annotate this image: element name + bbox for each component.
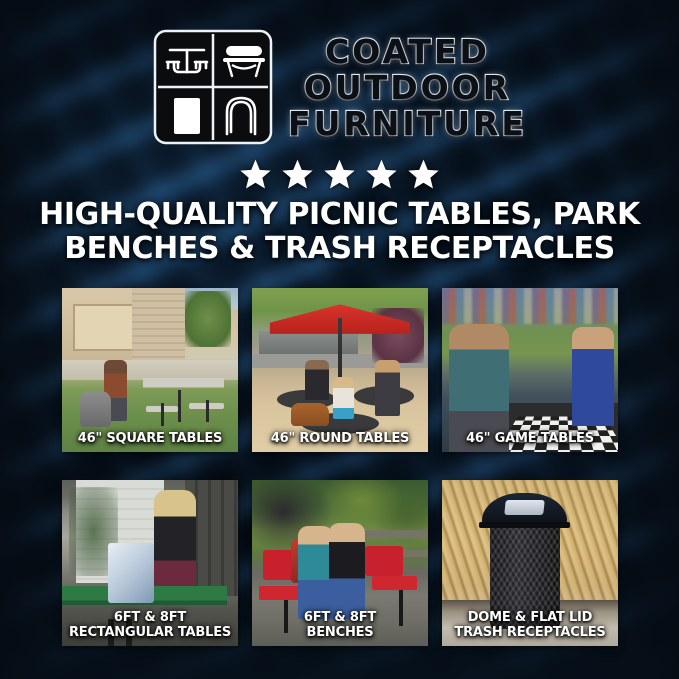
star-icon [365,158,398,191]
product-image-game-tables [442,288,618,452]
product-caption: 46" SQUARE TABLES [64,431,236,446]
caption-line-2: RECTANGULAR TABLES [64,625,236,640]
brand-wordmark: COATED OUTDOOR FURNITURE [288,34,527,142]
product-caption: 6FT & 8FT RECTANGULAR TABLES [64,610,236,640]
star-rating [0,156,679,192]
product-tile-game-tables[interactable]: 46" GAME TABLES [442,288,618,452]
caption-line-2: TRASH RECEPTACLES [444,625,616,640]
wordmark-line-coated: COATED [325,34,490,70]
caption-line-1: DOME & FLAT LID [444,610,616,625]
product-image-round-tables [252,288,428,452]
headline: HIGH-QUALITY PICNIC TABLES, PARK BENCHES… [30,198,649,266]
product-tile-benches[interactable]: 6FT & 8FT BENCHES [252,480,428,646]
caption-line-2: BENCHES [254,625,426,640]
caption-line-1: 46" GAME TABLES [444,431,616,446]
poster: COATED OUTDOOR FURNITURE HIGH-QUALITY PI… [0,0,679,679]
product-caption: 6FT & 8FT BENCHES [254,610,426,640]
star-icon [239,158,272,191]
star-icon [281,158,314,191]
caption-line-1: 6FT & 8FT [254,610,426,625]
product-image-square-tables [62,288,238,452]
wordmark-line-furniture: FURNITURE [288,106,527,142]
star-icon [323,158,356,191]
four-quadrant-outdoor-furniture-icon [152,28,274,146]
product-caption: 46" GAME TABLES [444,431,616,446]
caption-line-1: 46" ROUND TABLES [254,431,426,446]
brand-logo: COATED OUTDOOR FURNITURE [0,26,679,148]
product-grid: 46" SQUARE TABLES 46" ROUND TABLES [62,288,618,646]
trash-receptacle-icon [174,98,200,134]
product-tile-trash-receptacles[interactable]: DOME & FLAT LID TRASH RECEPTACLES [442,480,618,646]
caption-line-1: 46" SQUARE TABLES [64,431,236,446]
product-tile-round-tables[interactable]: 46" ROUND TABLES [252,288,428,452]
wordmark-line-outdoor: OUTDOOR [304,70,511,106]
star-icon [407,158,440,191]
product-tile-square-tables[interactable]: 46" SQUARE TABLES [62,288,238,452]
headline-line-1: HIGH-QUALITY PICNIC TABLES, PARK [30,198,649,232]
product-caption: DOME & FLAT LID TRASH RECEPTACLES [444,610,616,640]
product-caption: 46" ROUND TABLES [254,431,426,446]
caption-line-1: 6FT & 8FT [64,610,236,625]
headline-line-2: BENCHES & TRASH RECEPTACLES [30,232,649,266]
product-tile-rectangular-tables[interactable]: 6FT & 8FT RECTANGULAR TABLES [62,480,238,646]
